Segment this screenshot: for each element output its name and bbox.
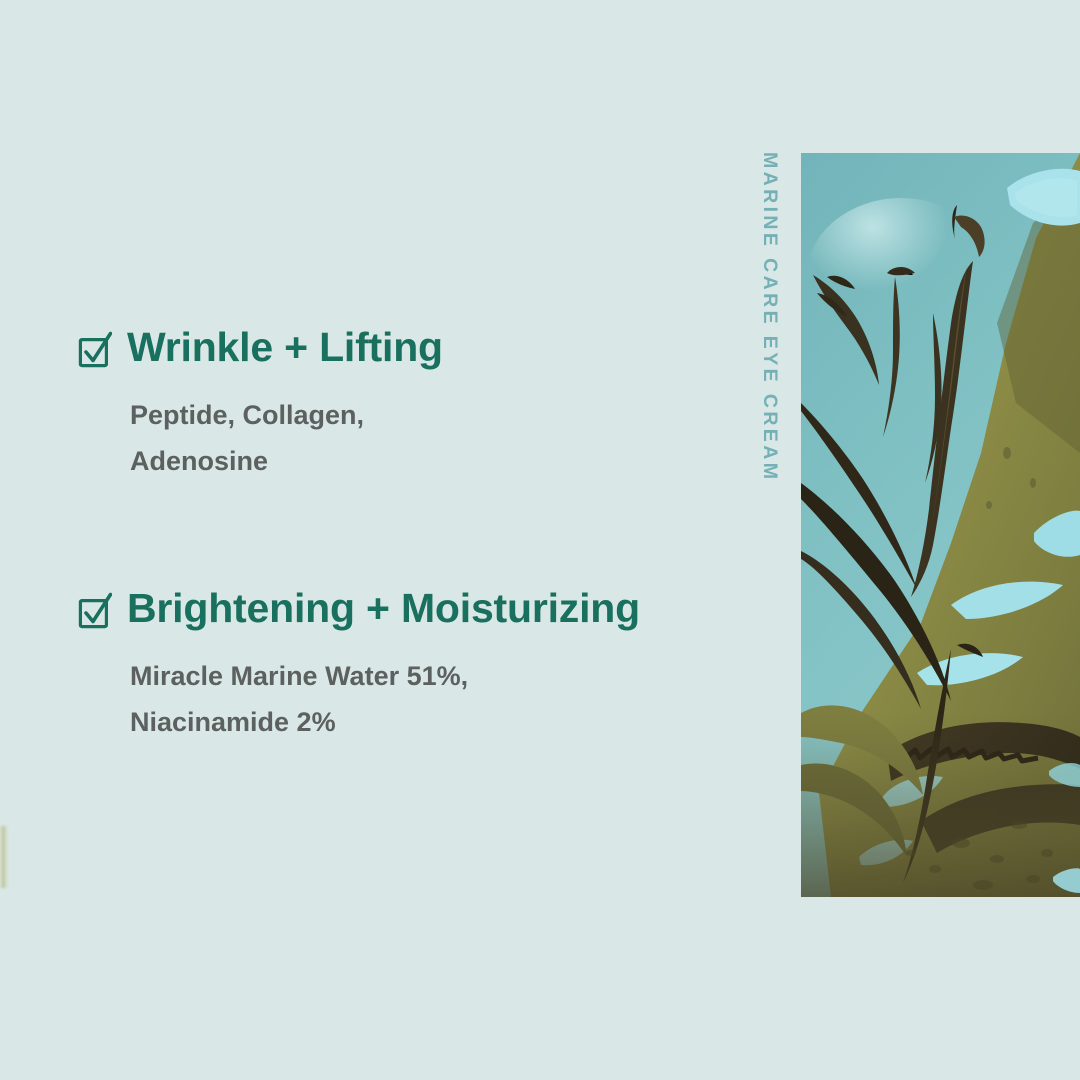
promo-canvas: MARINE CARE EYE CREAM Wrinkle + Lifting … <box>0 0 1080 1080</box>
feature-ingredient-line: Peptide, Collagen, <box>130 392 443 438</box>
feature-item-brightening-moisturizing: Brightening + Moisturizing Miracle Marin… <box>78 587 640 746</box>
vertical-product-label: MARINE CARE EYE CREAM <box>752 152 786 512</box>
checked-checkbox-icon <box>78 330 112 372</box>
feature-item-wrinkle-lifting: Wrinkle + Lifting Peptide, Collagen, Ade… <box>78 326 443 485</box>
feature-ingredient-lines: Peptide, Collagen, Adenosine <box>130 392 443 485</box>
feature-title: Wrinkle + Lifting <box>127 326 443 369</box>
feature-heading-row: Wrinkle + Lifting <box>78 326 443 372</box>
feature-ingredient-line: Miracle Marine Water 51%, <box>130 653 640 699</box>
checked-checkbox-icon <box>78 591 112 633</box>
feature-ingredient-lines: Miracle Marine Water 51%, Niacinamide 2% <box>130 653 640 746</box>
feature-heading-row: Brightening + Moisturizing <box>78 587 640 633</box>
vertical-product-label-text: MARINE CARE EYE CREAM <box>759 152 779 482</box>
feature-ingredient-line: Adenosine <box>130 438 443 484</box>
kelp-photo <box>801 153 1080 897</box>
feature-ingredient-line: Niacinamide 2% <box>130 699 640 745</box>
left-edge-sliver <box>0 826 9 888</box>
feature-title: Brightening + Moisturizing <box>127 587 640 630</box>
